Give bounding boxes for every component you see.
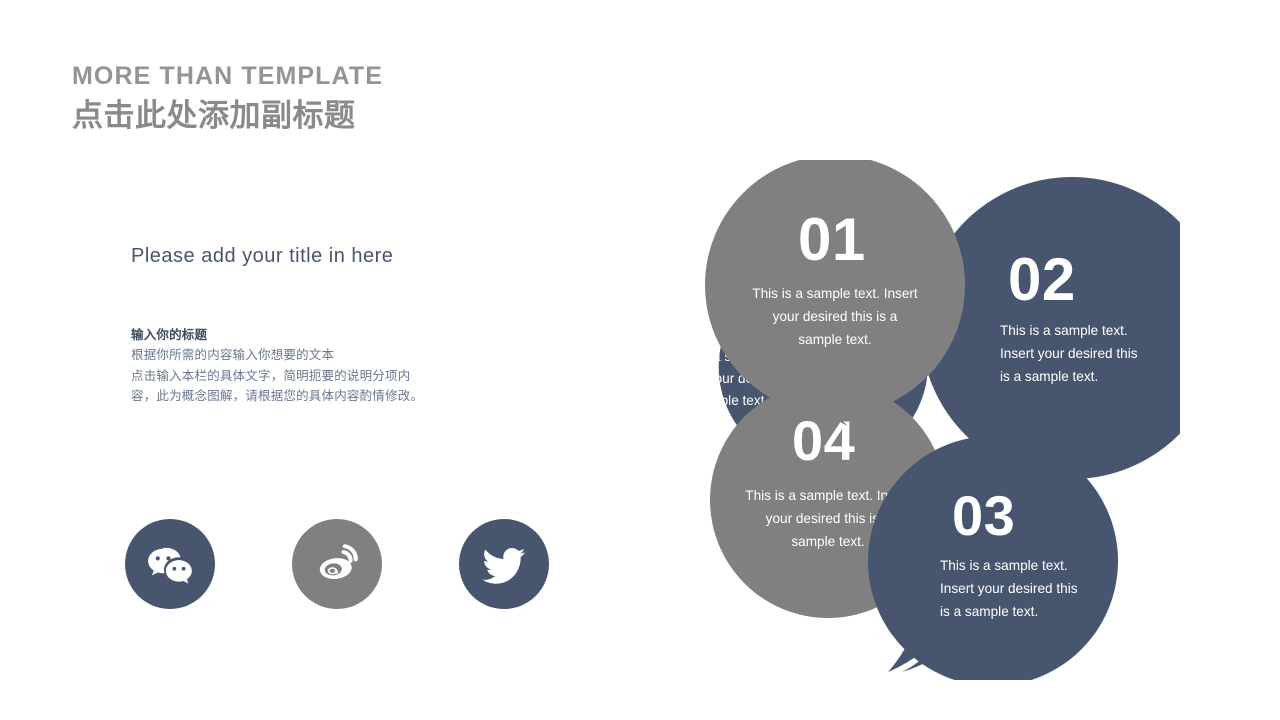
body-copy-block: 输入你的标题 根据你所需的内容输入你想要的文本 点击输入本栏的具体文字，简明扼要… — [131, 326, 461, 406]
bubble-04-line: your desired this is a — [766, 511, 891, 526]
lead-heading: Please add your title in here — [131, 245, 393, 268]
bubble-01-number: 01 — [798, 206, 866, 273]
page-title: 点击此处添加副标题 — [72, 96, 383, 136]
social-button-wechat[interactable] — [125, 519, 215, 609]
body-line: 点击输入本栏的具体文字，简明扼要的说明分项内 — [131, 366, 461, 386]
weibo-icon — [308, 535, 366, 593]
wechat-icon — [142, 536, 198, 592]
bubble-04-number: 04 — [792, 409, 855, 472]
social-button-twitter[interactable] — [459, 519, 549, 609]
bubble-03-right-line: is a sample text. — [940, 604, 1038, 619]
bubble-03-right-line: Insert your desired this — [940, 581, 1078, 596]
bubble-02-number: 02 — [1008, 246, 1076, 313]
bubble-03-right-line: This is a sample text. — [940, 558, 1068, 573]
bubble-02-line: This is a sample text. — [1000, 323, 1128, 338]
social-icon-row — [125, 519, 549, 609]
bubble-01-line: sample text. — [798, 332, 871, 347]
bubble-02-line: Insert your desired this — [1000, 346, 1138, 361]
social-button-weibo[interactable] — [292, 519, 382, 609]
title-eyebrow: MORE THAN TEMPLATE — [72, 62, 383, 91]
bubble-03-right[interactable]: 03 This is a sample text. Insert your de… — [868, 436, 1118, 680]
bubble-02-line: is a sample text. — [1000, 369, 1098, 384]
body-line: 根据你所需的内容输入你想要的文本 — [131, 345, 461, 365]
body-heading: 输入你的标题 — [131, 326, 461, 345]
body-line: 容，此为概念图解，请根据您的具体内容酌情修改。 — [131, 386, 461, 406]
slide-title-block: MORE THAN TEMPLATE 点击此处添加副标题 — [72, 62, 383, 136]
bubble-02[interactable]: 02 This is a sample text. Insert your de… — [921, 177, 1180, 479]
bubble-03-left-line: is a sample text. — [670, 393, 768, 408]
twitter-icon — [478, 538, 530, 590]
bubble-01-line: This is a sample text. Insert — [752, 286, 918, 301]
bubble-cluster-svg: 03 This is a sample text. Insert your de… — [620, 160, 1180, 680]
bubble-03-right-number: 03 — [952, 484, 1015, 547]
bubble-04-line: sample text. — [791, 534, 864, 549]
bubble-cluster: 03 This is a sample text. Insert your de… — [620, 160, 1180, 680]
bubble-01-line: your desired this is a — [773, 309, 898, 324]
